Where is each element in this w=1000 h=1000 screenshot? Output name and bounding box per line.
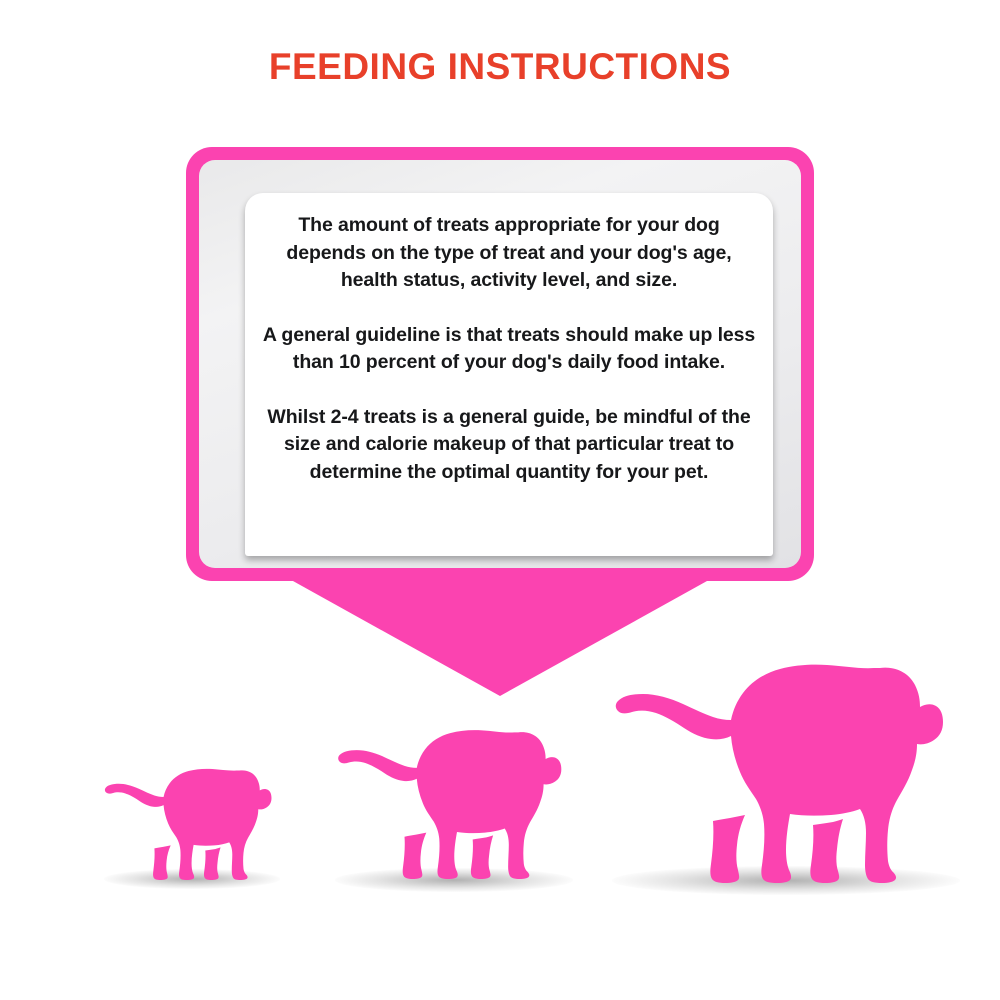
feeding-instructions-graphic: FEEDING INSTRUCTIONS The amount of treat… [0, 0, 1000, 1000]
speech-bubble-inner-panel: The amount of treats appropriate for you… [199, 160, 801, 568]
medium-dog-icon [337, 725, 562, 883]
instructions-paragraph-3: Whilst 2-4 treats is a general guide, be… [257, 404, 761, 487]
speech-bubble: The amount of treats appropriate for you… [186, 147, 814, 696]
instructions-card: The amount of treats appropriate for you… [245, 193, 773, 556]
instructions-paragraph-1: The amount of treats appropriate for you… [257, 212, 761, 295]
speech-bubble-frame: The amount of treats appropriate for you… [186, 147, 814, 581]
page-title: FEEDING INSTRUCTIONS [0, 46, 1000, 88]
small-dog-icon [104, 765, 272, 883]
instructions-paragraph-2: A general guideline is that treats shoul… [257, 322, 761, 377]
large-dog-icon [614, 662, 944, 884]
